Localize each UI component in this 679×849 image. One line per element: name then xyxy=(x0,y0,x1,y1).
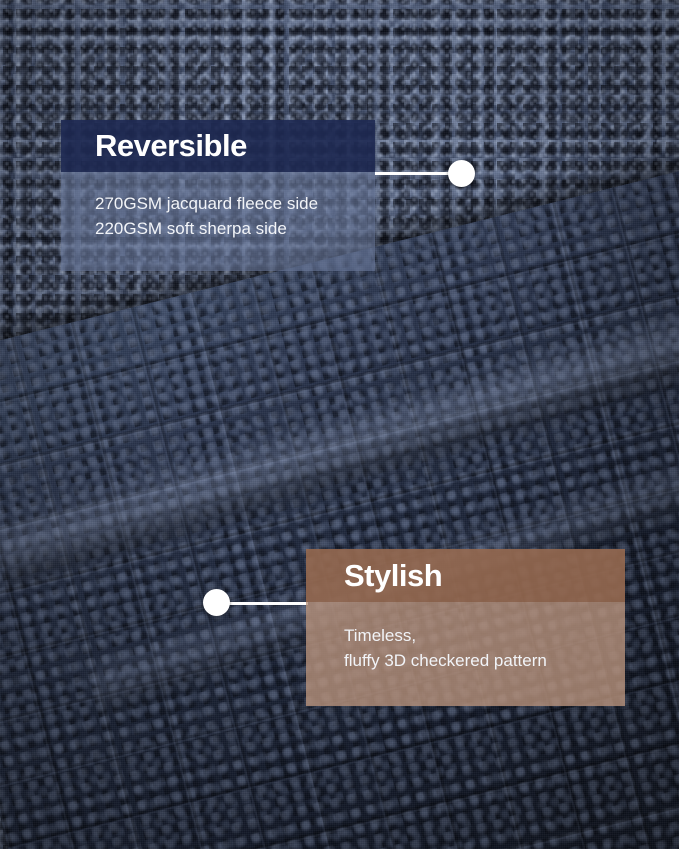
callout-body-stylish: Timeless, fluffy 3D checkered pattern xyxy=(306,602,625,706)
callout-heading-stylish: Stylish xyxy=(306,549,625,602)
callout-connector-dot-stylish xyxy=(203,589,230,616)
callout-body-line: 270GSM jacquard fleece side xyxy=(95,192,375,217)
callout-heading-reversible: Reversible xyxy=(61,120,375,172)
callout-body-line: fluffy 3D checkered pattern xyxy=(344,649,625,674)
callout-card-stylish: Stylish Timeless, fluffy 3D checkered pa… xyxy=(306,549,625,706)
callout-body-reversible: 270GSM jacquard fleece side 220GSM soft … xyxy=(61,172,375,271)
callout-body-line: Timeless, xyxy=(344,624,625,649)
callout-body-line: 220GSM soft sherpa side xyxy=(95,217,375,242)
callout-card-reversible: Reversible 270GSM jacquard fleece side 2… xyxy=(61,120,375,271)
callout-connector-line-reversible xyxy=(375,172,453,175)
product-feature-image: Reversible 270GSM jacquard fleece side 2… xyxy=(0,0,679,849)
callout-connector-dot-reversible xyxy=(448,160,475,187)
